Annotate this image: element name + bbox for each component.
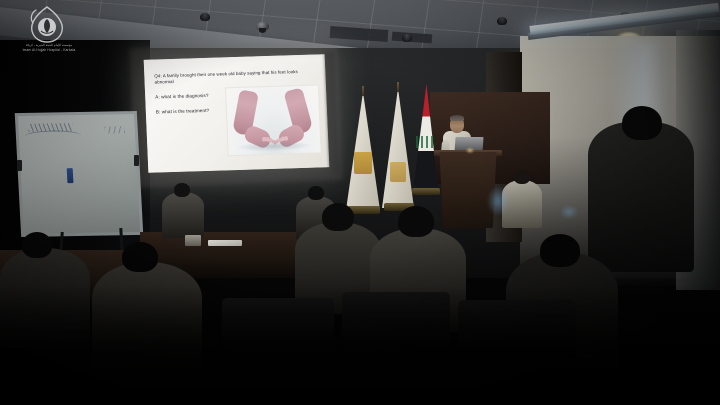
audience-head — [122, 242, 158, 272]
whiteboard-writing — [105, 126, 125, 133]
flag-pole — [362, 86, 364, 96]
presenter-hair — [450, 115, 464, 121]
whiteboard — [18, 114, 140, 234]
desk-nameplate — [185, 235, 201, 246]
audience-head — [174, 183, 190, 197]
audience-member — [588, 122, 694, 272]
projection-screen: Q4: A family brought their one week old … — [144, 54, 330, 173]
desk-papers — [208, 240, 242, 246]
audience-head — [540, 234, 580, 267]
chair-back — [222, 298, 334, 354]
audience-head — [514, 170, 530, 184]
slide-part-b-text: B: what is the treatment? — [156, 108, 210, 115]
audience-member — [92, 262, 202, 382]
slide-part-a-text: A: what is the diagnosis? — [155, 93, 209, 100]
flag-pole — [397, 82, 399, 92]
slide-clinical-photo — [225, 84, 322, 156]
ceiling-speaker-icon — [200, 13, 210, 21]
chair-back — [458, 300, 576, 358]
flag-emblem-left — [354, 152, 372, 174]
photo-shadow — [236, 141, 312, 152]
audience-laptop-glow — [560, 205, 578, 219]
lecture-hall-photo: Q4: A family brought their one week old … — [0, 0, 720, 405]
audience-head — [322, 203, 354, 231]
slide-surface: Q4: A family brought their one week old … — [144, 54, 330, 173]
laptop-screen-glow — [466, 148, 474, 153]
chair-back — [342, 292, 450, 352]
slide-question-text: Q4: A family brought their one week old … — [154, 69, 314, 85]
audience-head — [398, 206, 434, 237]
audience-head — [308, 186, 324, 200]
blue-marker-icon — [67, 168, 74, 183]
whiteboard-underline — [25, 130, 82, 142]
audience-member — [0, 248, 90, 348]
iraq-flag-script — [416, 136, 436, 148]
audience-head — [22, 232, 52, 258]
flag-base — [412, 188, 440, 195]
whiteboard-clip — [17, 160, 22, 171]
whiteboard-clip — [134, 155, 139, 166]
audience-laptop-glow — [487, 186, 509, 216]
dome-camera-icon — [256, 22, 269, 31]
audience-member — [162, 192, 204, 238]
ceiling-speaker-icon — [402, 34, 412, 42]
ceiling-speaker-icon — [497, 17, 507, 25]
audience-head — [622, 106, 662, 140]
flag-emblem-center — [390, 162, 406, 182]
